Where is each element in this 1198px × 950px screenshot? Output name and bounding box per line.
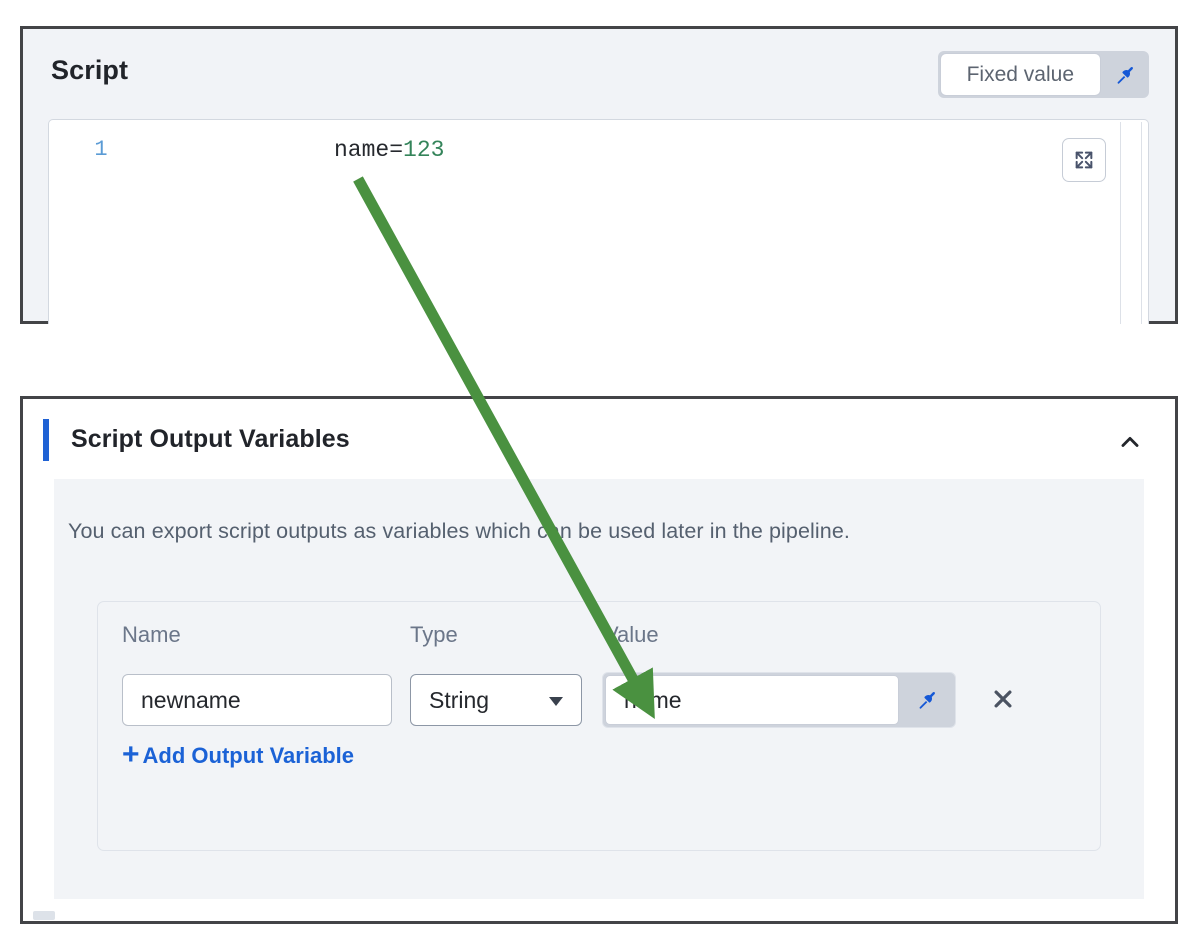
section-description: You can export script outputs as variabl… (68, 519, 850, 544)
add-output-variable-label: Add Output Variable (143, 743, 354, 769)
code-line-content: name=123 (334, 137, 444, 163)
variable-value-group (602, 672, 956, 728)
expand-fullscreen-icon (1073, 149, 1095, 171)
collapse-section-button[interactable] (1111, 423, 1149, 461)
page-title: Script (51, 55, 128, 86)
table-row: String (98, 664, 1100, 734)
variable-type-value: String (429, 687, 489, 714)
plus-icon: + (122, 740, 140, 770)
caret-down-icon (549, 697, 563, 706)
pushpin-toggle-value[interactable] (899, 673, 955, 727)
variable-name-input[interactable] (122, 674, 392, 726)
remove-variable-button[interactable] (986, 682, 1020, 716)
column-header-value: Value (604, 622, 659, 648)
script-code-editor[interactable]: 1 name=123 (48, 119, 1149, 324)
close-x-icon (988, 684, 1018, 714)
script-panel: Script Fixed value 1 name=123 (20, 26, 1178, 324)
table-header-row: Name Type Value (98, 602, 1100, 664)
variable-type-select[interactable]: String (410, 674, 582, 726)
code-line-number: 1 (49, 137, 153, 162)
value-mode-group: Fixed value (938, 51, 1149, 98)
output-variables-table: Name Type Value String (97, 601, 1101, 851)
code-token-key: name= (334, 137, 403, 163)
code-token-value: 123 (403, 137, 444, 163)
variable-value-input[interactable] (605, 675, 899, 725)
pushpin-icon (916, 689, 938, 711)
panel-bottom-stub (33, 911, 55, 920)
fixed-value-button[interactable]: Fixed value (940, 53, 1101, 96)
script-output-variables-body: You can export script outputs as variabl… (54, 479, 1144, 899)
add-output-variable-button[interactable]: + Add Output Variable (122, 742, 354, 770)
chevron-up-icon (1117, 429, 1143, 455)
editor-scrollbar[interactable] (1120, 122, 1142, 324)
script-output-variables-panel: Script Output Variables You can export s… (20, 396, 1178, 924)
section-title: Script Output Variables (71, 425, 350, 454)
script-panel-header: Script Fixed value (23, 29, 1175, 121)
section-accent-bar (43, 419, 49, 461)
column-header-name: Name (122, 622, 181, 648)
column-header-type: Type (410, 622, 458, 648)
pushpin-icon (1114, 64, 1136, 86)
script-output-variables-header[interactable]: Script Output Variables (23, 399, 1175, 475)
expand-fullscreen-button[interactable] (1062, 138, 1106, 182)
pushpin-toggle-script[interactable] (1101, 51, 1149, 98)
code-gutter: 1 (49, 120, 153, 324)
